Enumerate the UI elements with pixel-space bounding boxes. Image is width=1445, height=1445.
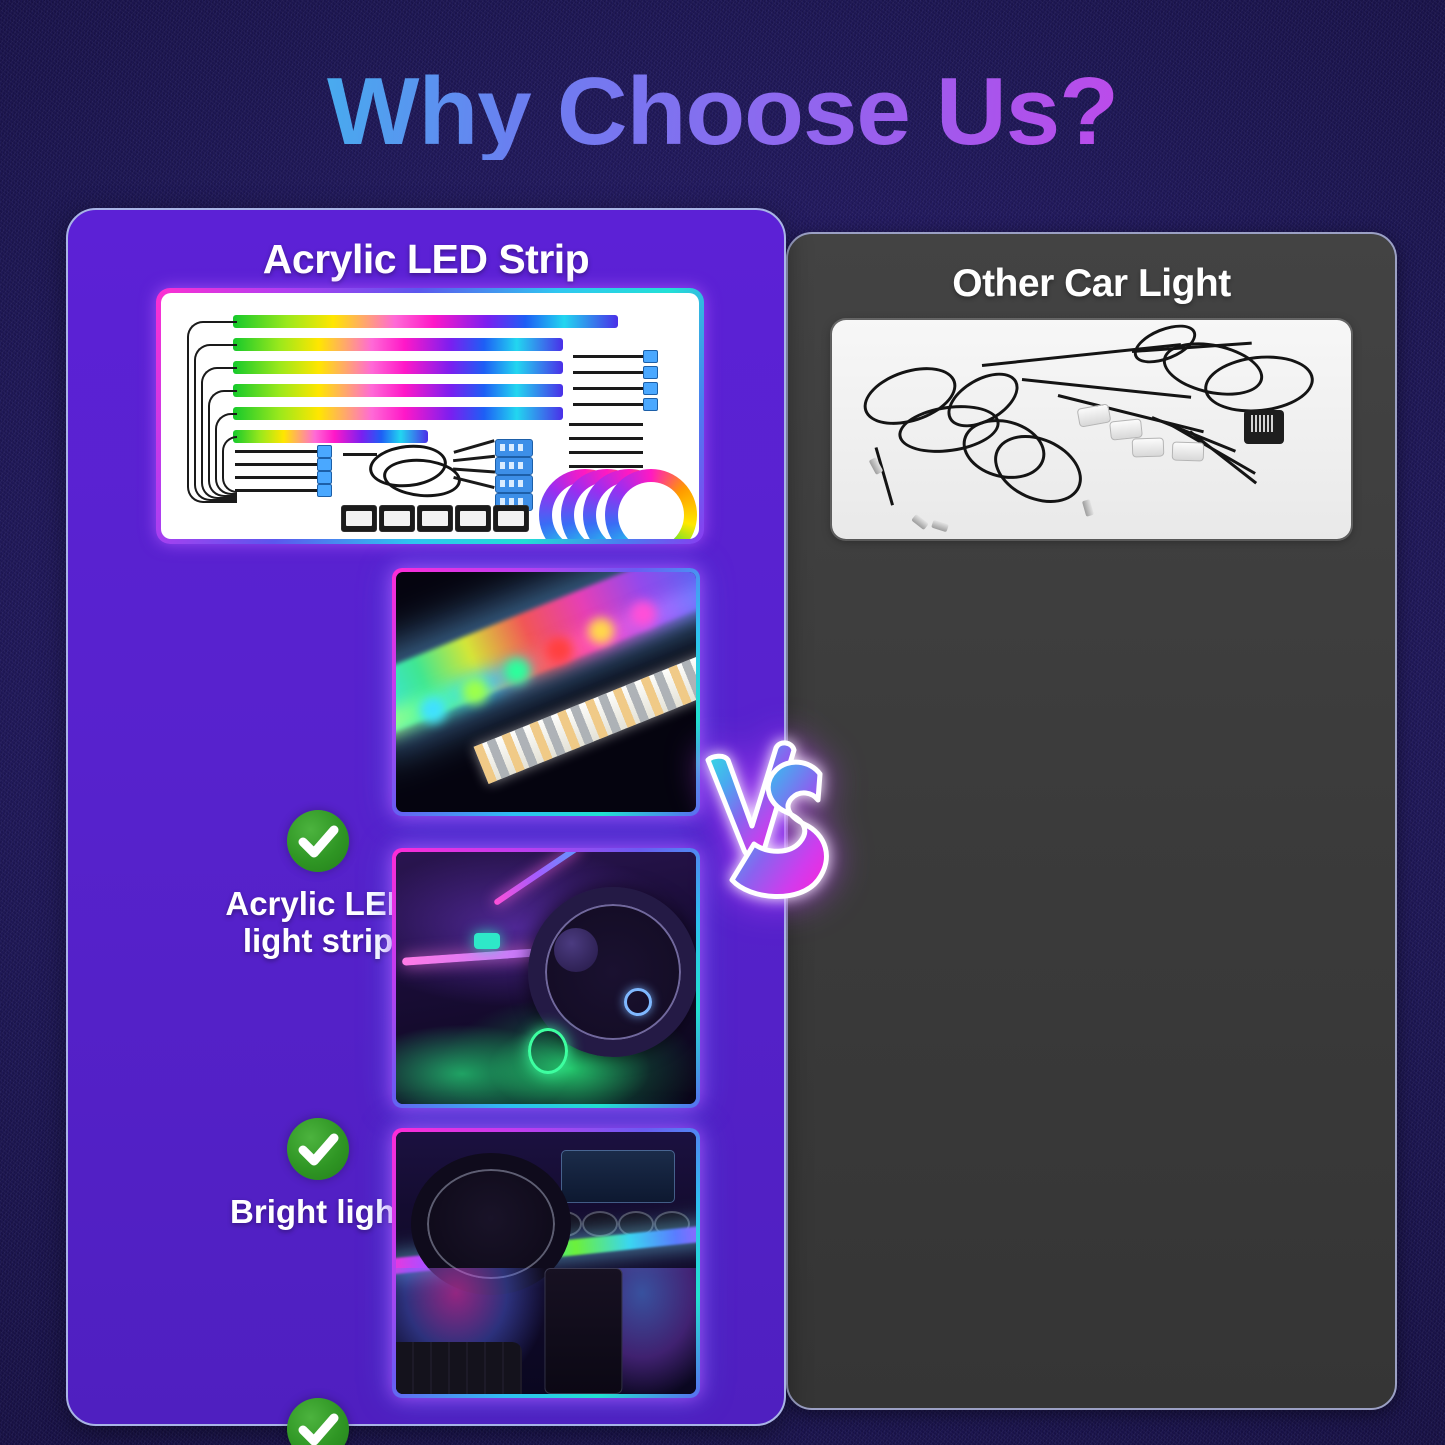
check-icon [287,1398,349,1445]
vs-badge [692,730,842,920]
feature-tidy: Tidy [220,1398,416,1445]
feature-acrylic-led-light-strip: Acrylic LED light strip [220,810,416,960]
check-icon [287,810,349,872]
car-cabin-bright-ambient-lighting-photo [392,848,700,1108]
rgb-led-strip-closeup-photo [392,568,700,816]
feature-label: Acrylic LED light strip [225,886,410,960]
acrylic-led-strip-kit-photo [156,288,704,544]
feature-label: Bright light [230,1194,406,1231]
check-icon [287,1118,349,1180]
other-car-light-panel: Other Car Light [786,232,1397,1410]
car-dashboard-tidy-rainbow-lighting-photo [392,1128,700,1398]
feature-bright-light: Bright light [220,1118,416,1231]
page-title: Why Choose Us? [0,64,1445,160]
left-panel-title: Acrylic LED Strip [68,236,784,283]
right-panel-title: Other Car Light [788,262,1395,306]
tangled-cable-kit-photo [832,320,1351,539]
infographic-root: Why Choose Us? Other Car Light [0,0,1445,1445]
